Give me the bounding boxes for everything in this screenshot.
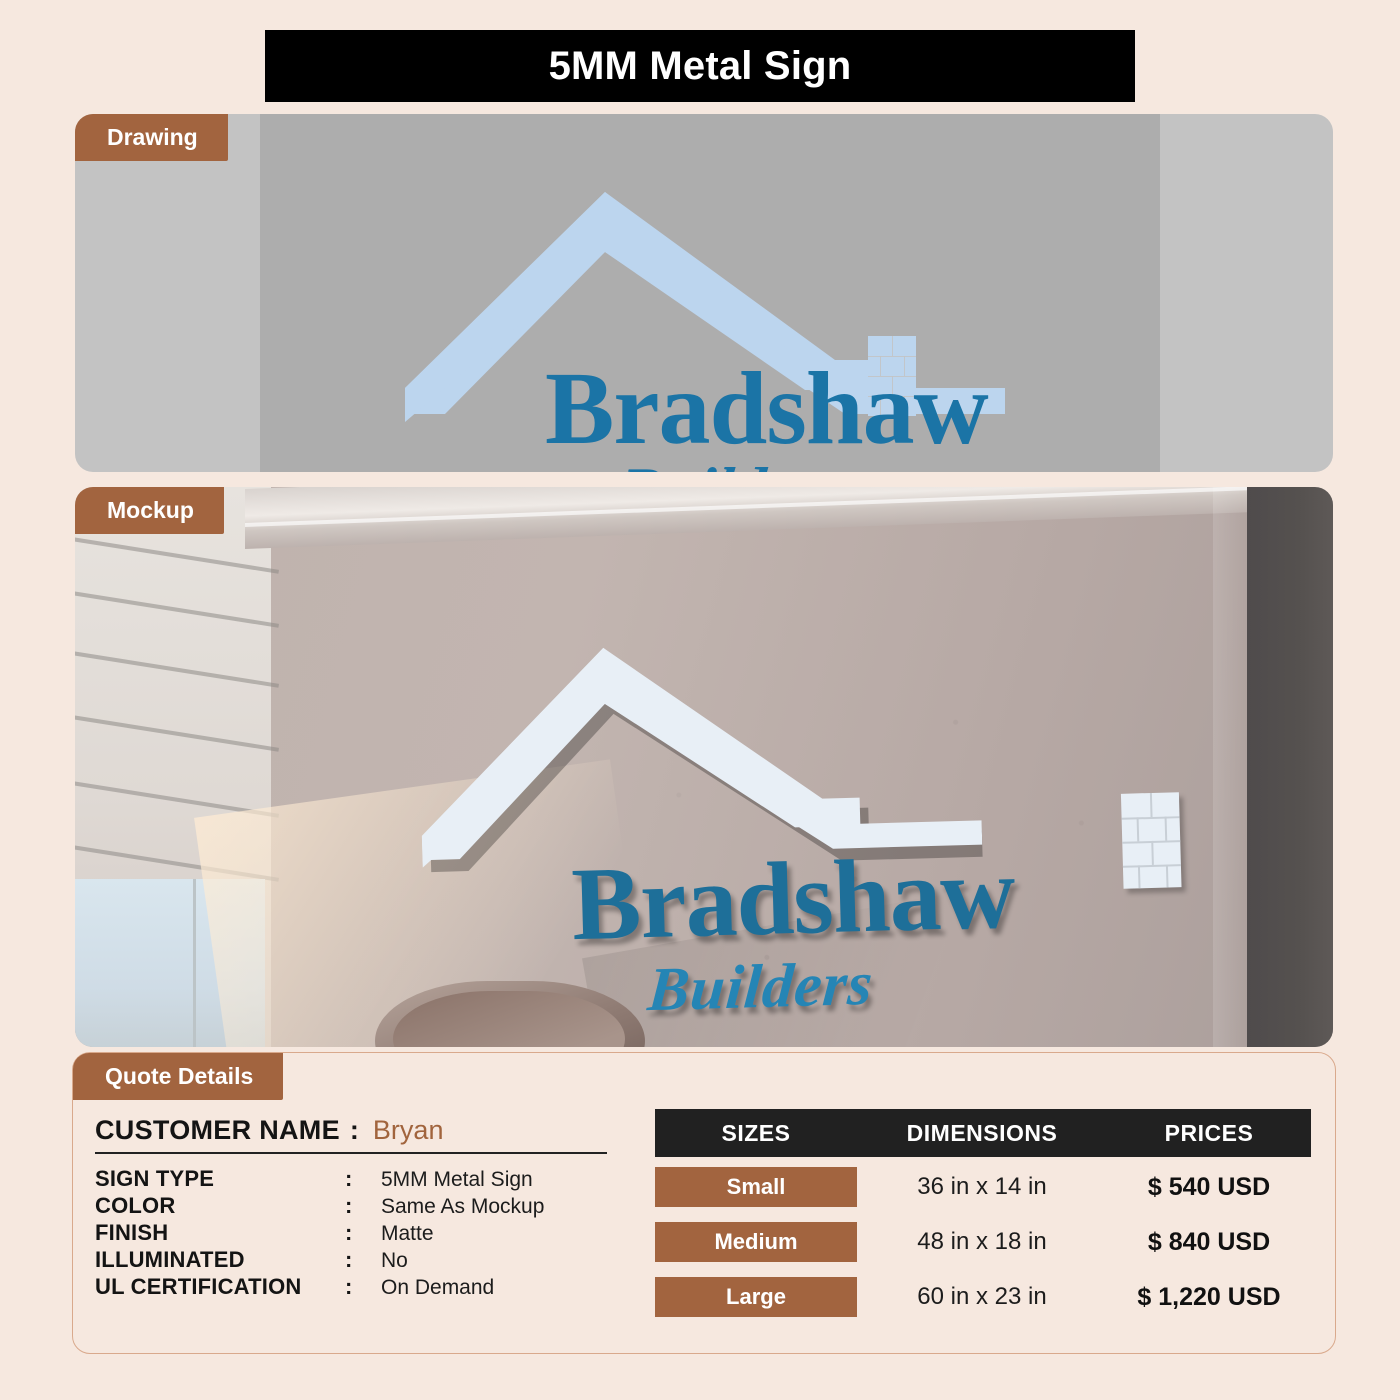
table-row[interactable]: Medium 48 in x 18 in $ 840 USD xyxy=(655,1217,1311,1267)
customer-name-colon: : xyxy=(350,1115,359,1146)
mockup-logo: Bradshaw Builders xyxy=(416,629,1023,906)
quote-details-tab[interactable]: Quote Details xyxy=(73,1053,283,1100)
drawing-logo: Bradshaw Builders xyxy=(75,114,1333,472)
wall-corner-highlight xyxy=(1213,487,1247,1047)
header-prices: PRICES xyxy=(1107,1120,1311,1147)
mockup-panel: Bradshaw Builders Mockup xyxy=(75,487,1333,1047)
price-cell: $ 540 USD xyxy=(1107,1173,1311,1202)
table-row[interactable]: Large 60 in x 23 in $ 1,220 USD xyxy=(655,1272,1311,1322)
mockup-logo-script-text: Builders xyxy=(646,953,876,1021)
quote-spec-list: CUSTOMER NAME : Bryan SIGN TYPE : 5MM Me… xyxy=(95,1115,655,1301)
dimensions-cell: 36 in x 14 in xyxy=(857,1173,1107,1201)
page-title-bar: 5MM Metal Sign xyxy=(265,30,1135,102)
page-title: 5MM Metal Sign xyxy=(549,44,852,89)
spec-label: FINISH xyxy=(95,1220,345,1246)
mockup-tab[interactable]: Mockup xyxy=(75,487,224,534)
size-badge: Large xyxy=(655,1277,857,1317)
spec-label: UL CERTIFICATION xyxy=(95,1274,345,1300)
mockup-chimney-icon xyxy=(1121,792,1182,889)
spec-colon: : xyxy=(345,1247,381,1273)
customer-name-row: CUSTOMER NAME : Bryan xyxy=(95,1115,607,1154)
spec-label: SIGN TYPE xyxy=(95,1166,345,1192)
spec-value: Same As Mockup xyxy=(381,1195,544,1219)
logo-script-text: Builders xyxy=(617,459,849,472)
mockup-logo-main-text: Bradshaw xyxy=(570,841,1016,957)
spec-colon: : xyxy=(345,1220,381,1246)
spec-row: COLOR : Same As Mockup xyxy=(95,1193,655,1220)
spec-colon: : xyxy=(345,1274,381,1300)
table-row[interactable]: Small 36 in x 14 in $ 540 USD xyxy=(655,1162,1311,1212)
header-sizes: SIZES xyxy=(655,1120,857,1147)
spec-value: On Demand xyxy=(381,1276,494,1300)
price-cell: $ 1,220 USD xyxy=(1107,1283,1311,1312)
window-mullion xyxy=(193,879,196,1047)
spec-row: UL CERTIFICATION : On Demand xyxy=(95,1274,655,1301)
spec-row: SIGN TYPE : 5MM Metal Sign xyxy=(95,1166,655,1193)
spec-row: FINISH : Matte xyxy=(95,1220,655,1247)
drawing-tab-label: Drawing xyxy=(107,124,198,150)
spec-label: ILLUMINATED xyxy=(95,1247,345,1273)
spec-value: 5MM Metal Sign xyxy=(381,1168,533,1192)
spec-label: COLOR xyxy=(95,1193,345,1219)
mockup-tab-label: Mockup xyxy=(107,497,194,523)
door-frame-strip xyxy=(1247,487,1333,1047)
header-dimensions: DIMENSIONS xyxy=(857,1120,1107,1147)
spec-row: ILLUMINATED : No xyxy=(95,1247,655,1274)
size-badge: Medium xyxy=(655,1222,857,1262)
quote-details-panel: Quote Details CUSTOMER NAME : Bryan SIGN… xyxy=(72,1052,1336,1354)
spec-value: No xyxy=(381,1249,408,1273)
spec-colon: : xyxy=(345,1166,381,1192)
price-cell: $ 840 USD xyxy=(1107,1228,1311,1257)
spec-value: Matte xyxy=(381,1222,434,1246)
logo-main-text: Bradshaw xyxy=(545,357,988,461)
dimensions-cell: 60 in x 23 in xyxy=(857,1283,1107,1311)
price-table-header: SIZES DIMENSIONS PRICES xyxy=(655,1109,1311,1157)
price-table: SIZES DIMENSIONS PRICES Small 36 in x 14… xyxy=(655,1109,1311,1322)
customer-name-value: Bryan xyxy=(373,1115,444,1146)
quote-details-tab-label: Quote Details xyxy=(105,1063,253,1089)
dimensions-cell: 48 in x 18 in xyxy=(857,1228,1107,1256)
spec-colon: : xyxy=(345,1193,381,1219)
chair-inner xyxy=(393,991,625,1047)
customer-name-label: CUSTOMER NAME xyxy=(95,1115,340,1146)
drawing-panel: Bradshaw Builders Drawing xyxy=(75,114,1333,472)
size-badge: Small xyxy=(655,1167,857,1207)
drawing-tab[interactable]: Drawing xyxy=(75,114,228,161)
